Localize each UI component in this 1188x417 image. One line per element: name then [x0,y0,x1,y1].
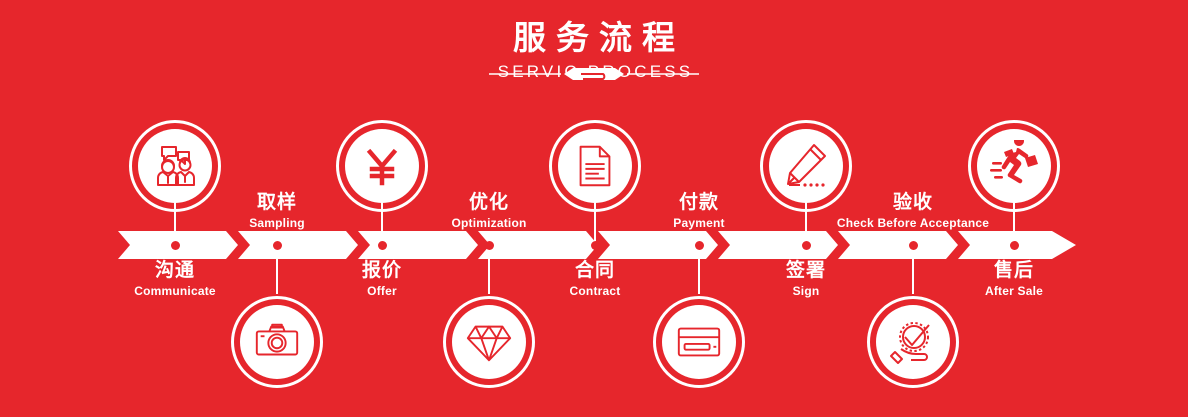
hand-check-badge-icon [887,316,939,368]
yen-currency-icon [356,140,408,192]
step-labels: 沟通 Communicate [75,258,275,299]
step-label-en: Optimization [389,215,589,231]
step-icon-badge[interactable] [336,120,428,212]
step-icon-badge[interactable] [760,120,852,212]
step-label-en: Sign [706,283,906,299]
step-label-cn: 售后 [914,258,1114,282]
step-icon-badge[interactable] [968,120,1060,212]
delivery-runner-icon [988,140,1040,192]
step-label-cn: 验收 [813,190,1013,214]
step-label-en: Offer [282,283,482,299]
step-icon-badge[interactable] [653,296,745,388]
step-icon-badge[interactable] [129,120,221,212]
chevron-arrow-bar [118,231,1076,259]
step-icon-badge[interactable] [443,296,535,388]
page-title-cn: 服务流程 [0,18,1188,58]
credit-card-icon [674,317,724,367]
step-label-en: Payment [599,215,799,231]
step-label-cn: 取样 [177,190,377,214]
step-label-en: After Sale [914,283,1114,299]
step-labels: 验收 Check Before Acceptance [813,190,1013,231]
step-label-cn: 沟通 [75,258,275,282]
step-labels: 售后 After Sale [914,258,1114,299]
step-label-cn: 签署 [706,258,906,282]
camera-icon [252,317,302,367]
step-icon-badge[interactable] [231,296,323,388]
service-process-banner: 服务流程 SERVIC PROCESS [0,0,1188,417]
step-label-en: Communicate [75,283,275,299]
step-icon-badge[interactable] [867,296,959,388]
step-labels: 报价 Offer [282,258,482,299]
step-label-cn: 付款 [599,190,799,214]
step-label-en: Sampling [177,215,377,231]
document-contract-icon [570,141,620,191]
step-label-cn: 合同 [495,258,695,282]
step-label-cn: 报价 [282,258,482,282]
step-labels: 付款 Payment [599,190,799,231]
step-label-en: Check Before Acceptance [813,215,1013,231]
pencil-sign-icon [780,140,832,192]
step-label-cn: 优化 [389,190,589,214]
step-labels: 优化 Optimization [389,190,589,231]
diamond-gem-icon [464,317,514,367]
step-label-en: Contract [495,283,695,299]
step-labels: 取样 Sampling [177,190,377,231]
step-labels: 签署 Sign [706,258,906,299]
step-icon-badge[interactable] [549,120,641,212]
step-labels: 合同 Contract [495,258,695,299]
paperclip-divider-icon [489,66,699,82]
people-chat-icon [149,140,201,192]
